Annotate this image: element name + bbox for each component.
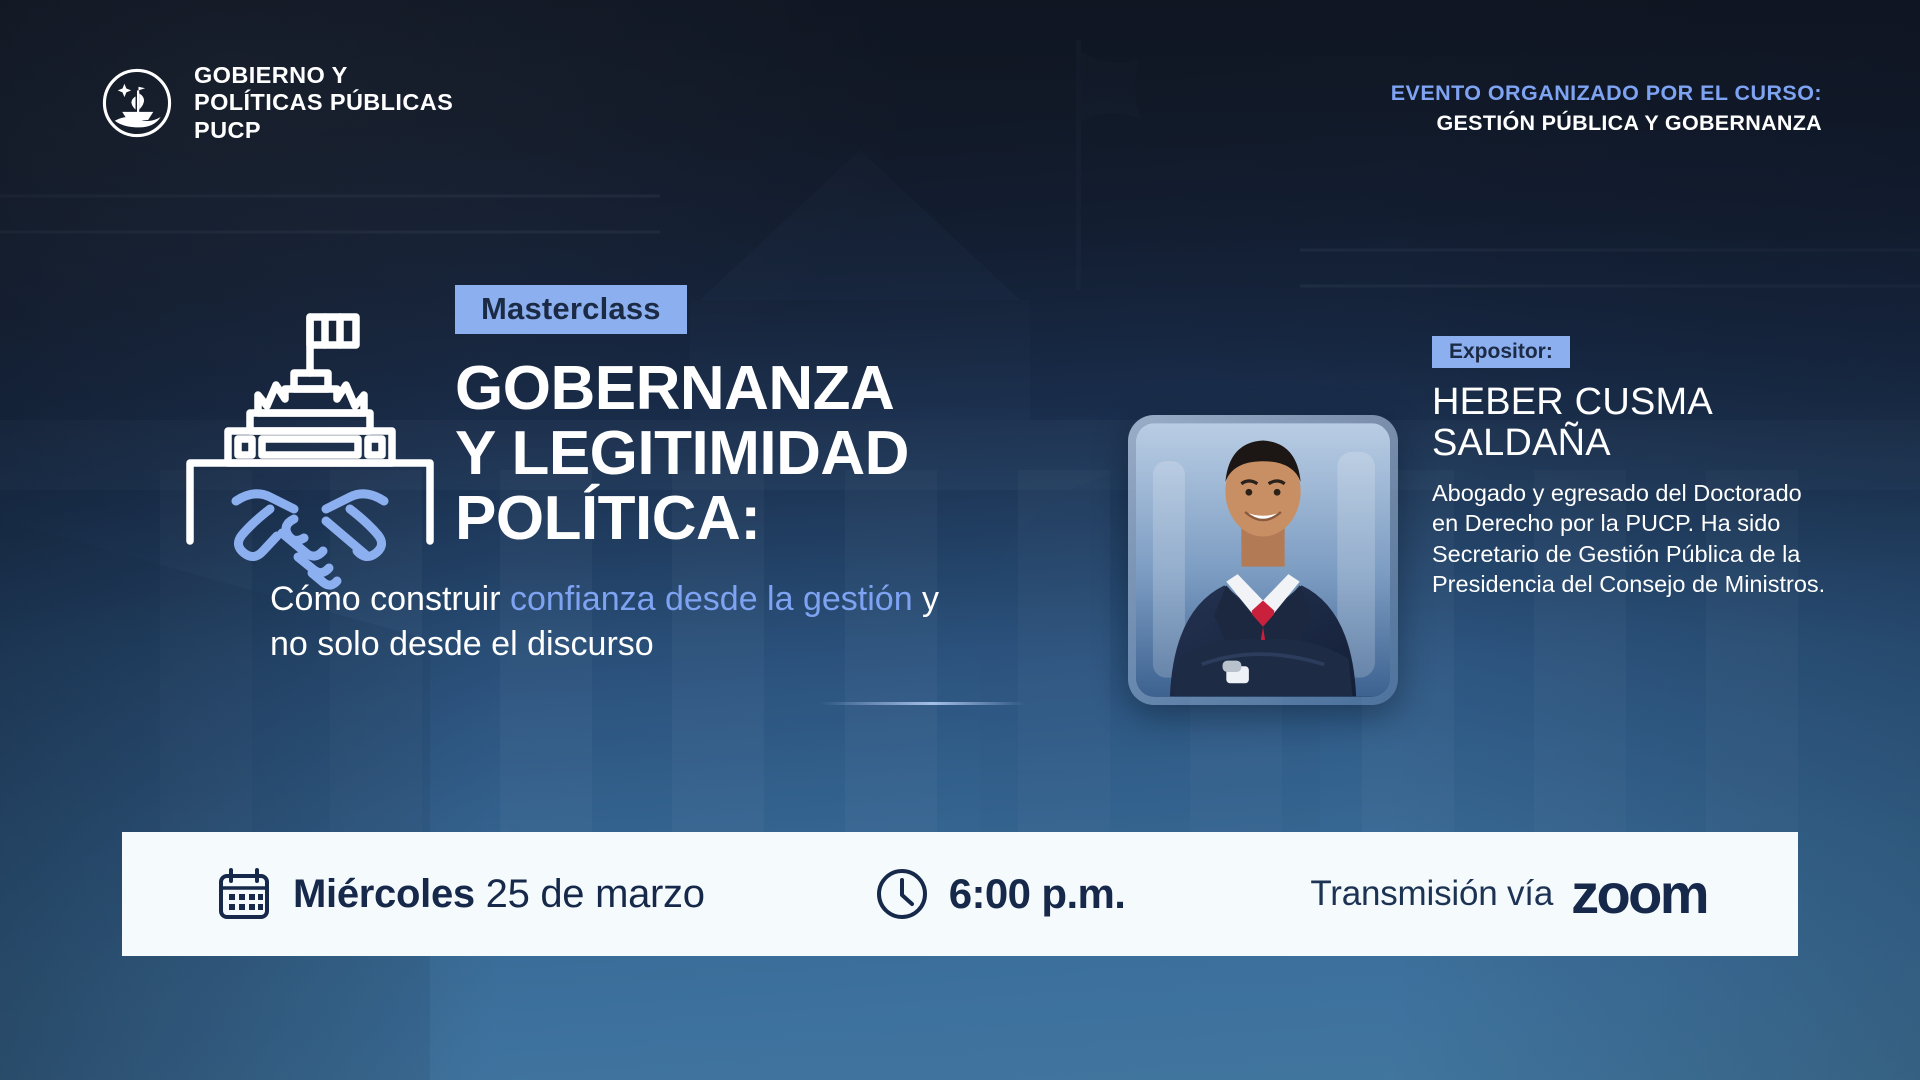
date-weekday: Miércoles — [293, 872, 475, 916]
organizer-line-2: GESTIÓN PÚBLICA Y GOBERNANZA — [1391, 110, 1822, 137]
organizer-block: EVENTO ORGANIZADO POR EL CURSO: GESTIÓN … — [1391, 80, 1822, 137]
date-rest: 25 de marzo — [475, 872, 705, 916]
platform-prefix: Transmisión vía — [1310, 874, 1553, 914]
event-info-bar: Miércoles 25 de marzo 6:00 p.m. Transmis… — [122, 832, 1798, 956]
expositor-badge: Expositor: — [1432, 336, 1570, 368]
date-info: Miércoles 25 de marzo — [217, 867, 705, 921]
event-headline: GOBERNANZA Y LEGITIMIDAD POLÍTICA: — [455, 357, 1105, 551]
masterclass-badge: Masterclass — [455, 285, 687, 334]
organizer-line-1: EVENTO ORGANIZADO POR EL CURSO: — [1391, 80, 1822, 107]
subtitle-part-1: Cómo construir — [270, 580, 510, 618]
event-poster: GOBIERNO Y POLÍTICAS PÚBLICAS PUCP EVENT… — [0, 0, 1920, 1080]
calendar-icon — [217, 867, 271, 921]
zoom-logo: zoom — [1571, 866, 1707, 922]
pucp-caravel-circle-logo — [100, 66, 174, 140]
event-subtitle: Cómo construir confianza desde la gestió… — [270, 577, 970, 665]
main-title-block: Masterclass GOBERNANZA Y LEGITIMIDAD POL… — [455, 285, 1105, 666]
decorative-accent-line — [820, 702, 1025, 705]
speaker-portrait-illustration — [1136, 423, 1390, 697]
speaker-photo-frame — [1128, 415, 1398, 705]
speaker-bio: Abogado y egresado del Doctorado en Dere… — [1432, 478, 1832, 599]
headline-line-3: POLÍTICA: — [455, 487, 1105, 552]
government-building-handshake-icon — [170, 305, 450, 595]
platform-info: Transmisión vía zoom — [1310, 866, 1707, 922]
speaker-name-line-1: HEBER CUSMA — [1432, 382, 1832, 423]
headline-line-1: GOBERNANZA — [455, 357, 1105, 422]
pucp-logo-block: GOBIERNO Y POLÍTICAS PÚBLICAS PUCP — [100, 62, 453, 144]
speaker-name-line-2: SALDAÑA — [1432, 423, 1832, 464]
time-info: 6:00 p.m. — [875, 867, 1126, 921]
speaker-name: HEBER CUSMA SALDAÑA — [1432, 382, 1832, 464]
clock-icon — [875, 867, 929, 921]
speaker-photo — [1136, 423, 1390, 697]
subtitle-highlight-1: confianza desde la — [510, 580, 794, 618]
logo-wordmark: GOBIERNO Y POLÍTICAS PÚBLICAS PUCP — [194, 62, 453, 144]
time-value: 6:00 p.m. — [949, 870, 1126, 918]
headline-line-2: Y LEGITIMIDAD — [455, 422, 1105, 487]
speaker-info-block: Expositor: HEBER CUSMA SALDAÑA Abogado y… — [1432, 336, 1832, 599]
subtitle-highlight-2: gestión — [803, 580, 913, 618]
